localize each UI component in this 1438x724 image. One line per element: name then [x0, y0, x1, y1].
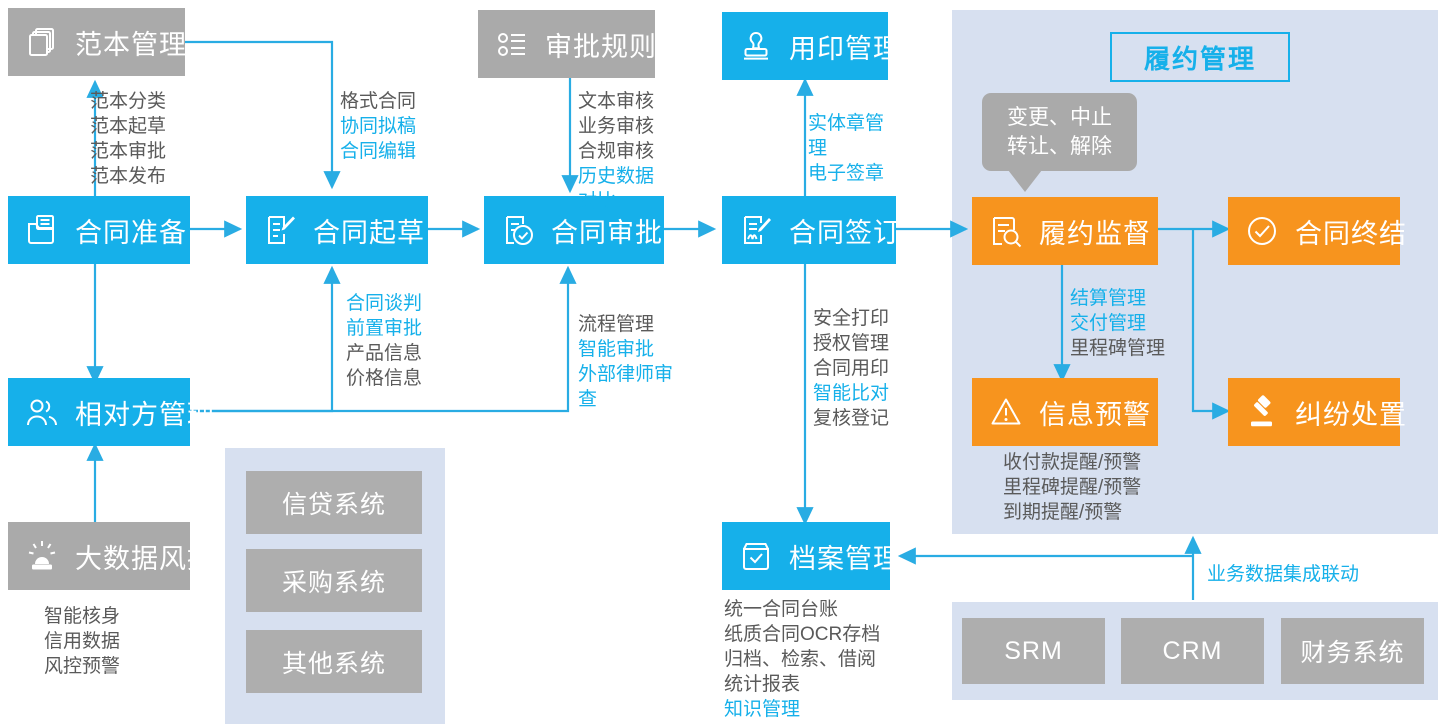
- archive-check-icon: [736, 536, 776, 576]
- node-label: 合同起草: [313, 211, 425, 250]
- caption-line: 实体章管理: [808, 113, 884, 159]
- caption-archive-mgmt: 统一合同台账纸质合同OCR存档归档、检索、借阅统计报表知识管理: [724, 597, 880, 722]
- node-label: 用印管理: [789, 27, 901, 66]
- caption-line: 业务审核: [578, 116, 654, 137]
- caption-line: 范本起草: [90, 116, 166, 137]
- node-label: 大数据风控: [75, 537, 215, 576]
- node-label: 纠纷处置: [1295, 393, 1407, 432]
- document-signature-icon: [736, 210, 776, 250]
- caption-line: 历史数据对比: [578, 166, 654, 212]
- caption-line: 授权管理: [813, 333, 889, 354]
- node-label: 合同签订: [789, 211, 901, 250]
- node-performance-monitor[interactable]: 履约监督: [972, 197, 1158, 265]
- folder-document-icon: [22, 210, 62, 250]
- node-label: 信息预警: [1039, 393, 1151, 432]
- caption-line: 到期提醒/预警: [1003, 502, 1122, 523]
- caption-seal-mgmt: 实体章管理电子签章: [808, 111, 894, 186]
- document-check-icon: [498, 210, 538, 250]
- system-label: 财务系统: [1300, 633, 1404, 669]
- node-seal-mgmt[interactable]: 用印管理: [722, 12, 888, 80]
- caption-line: 信用数据: [44, 631, 120, 652]
- caption-line: 产品信息: [346, 343, 422, 364]
- caption-line: 智能核身: [44, 606, 120, 627]
- system-box-other[interactable]: 其他系统: [246, 630, 422, 693]
- system-label: 其他系统: [282, 644, 386, 680]
- caption-performance-monitor: 结算管理交付管理里程碑管理: [1070, 286, 1165, 361]
- caption-line: 范本分类: [90, 91, 166, 112]
- node-bigdata-risk[interactable]: 大数据风控: [8, 522, 190, 590]
- diagram-canvas: 范本管理 审批规则 用印管理: [0, 0, 1438, 724]
- caption-line: 知识管理: [724, 699, 800, 720]
- caption-line: 合同编辑: [340, 141, 416, 162]
- caption-line: 归档、检索、借阅: [724, 649, 876, 670]
- caption-line: 价格信息: [346, 368, 422, 389]
- document-search-icon: [986, 211, 1026, 251]
- callout-line-1: 变更、中止: [1007, 103, 1112, 132]
- node-label: 履约监督: [1039, 212, 1151, 251]
- caption-info-alert: 收付款提醒/预警里程碑提醒/预警到期提醒/预警: [1003, 450, 1141, 525]
- caption-line: 结算管理: [1070, 288, 1146, 309]
- circle-check-icon: [1242, 211, 1282, 251]
- caption-line: 范本发布: [90, 166, 166, 187]
- caption-line: 协同拟稿: [340, 116, 416, 137]
- caption-line: 收付款提醒/预警: [1003, 452, 1141, 473]
- node-contract-draft[interactable]: 合同起草: [246, 196, 428, 264]
- caption-line: 前置审批: [346, 318, 422, 339]
- caption-line: 纸质合同OCR存档: [724, 624, 880, 645]
- caption-line: 文本审核: [578, 91, 654, 112]
- caption-contract-approve-top: 文本审核业务审核合规审核历史数据对比: [578, 89, 664, 214]
- caption-contract-sign-bottom: 安全打印授权管理合同用印智能比对复核登记: [813, 306, 889, 431]
- stamp-icon: [736, 26, 776, 66]
- node-dispute-handling[interactable]: 纠纷处置: [1228, 378, 1400, 446]
- caption-contract-draft-top: 格式合同协同拟稿合同编辑: [340, 89, 416, 164]
- document-pencil-icon: [260, 210, 300, 250]
- caption-line: 复核登记: [813, 408, 889, 429]
- performance-mgmt-title: 履约管理: [1110, 32, 1290, 82]
- caption-contract-draft-bottom: 合同谈判前置审批产品信息价格信息: [346, 291, 422, 391]
- list-rules-icon: [492, 24, 532, 64]
- warning-triangle-icon: [986, 392, 1026, 432]
- callout-tail-icon: [1008, 170, 1042, 192]
- caption-line: 智能比对: [813, 383, 889, 404]
- node-label: 合同终结: [1295, 212, 1407, 251]
- caption-line: 业务数据集成联动: [1207, 564, 1359, 585]
- node-label: 范本管理: [75, 23, 187, 62]
- system-box-credit[interactable]: 信贷系统: [246, 471, 422, 534]
- node-contract-end[interactable]: 合同终结: [1228, 197, 1400, 265]
- node-contract-sign[interactable]: 合同签订: [722, 196, 896, 264]
- caption-line: 流程管理: [578, 314, 654, 335]
- node-template-mgmt[interactable]: 范本管理: [8, 8, 185, 76]
- system-label: 采购系统: [282, 563, 386, 599]
- caption-line: 电子签章: [808, 163, 884, 184]
- node-approval-rules[interactable]: 审批规则: [478, 10, 655, 78]
- caption-line: 外部律师审查: [578, 364, 673, 410]
- gavel-icon: [1242, 392, 1282, 432]
- caption-line: 合规审核: [578, 141, 654, 162]
- stacked-documents-icon: [22, 22, 62, 62]
- caption-bigdata-risk: 智能核身信用数据风控预警: [44, 604, 120, 679]
- node-label: 相对方管理: [75, 393, 215, 432]
- system-box-finance[interactable]: 财务系统: [1281, 618, 1424, 684]
- node-label: 档案管理: [789, 537, 901, 576]
- node-archive-mgmt[interactable]: 档案管理: [722, 522, 890, 590]
- caption-line: 里程碑管理: [1070, 338, 1165, 359]
- system-label: SRM: [1004, 637, 1063, 666]
- node-info-alert[interactable]: 信息预警: [972, 378, 1158, 446]
- system-label: 信贷系统: [282, 485, 386, 521]
- alarm-light-icon: [22, 536, 62, 576]
- caption-line: 交付管理: [1070, 313, 1146, 334]
- caption-line: 统计报表: [724, 674, 800, 695]
- caption-line: 格式合同: [340, 91, 416, 112]
- caption-line: 风控预警: [44, 656, 120, 677]
- caption-line: 统一合同台账: [724, 599, 838, 620]
- node-label: 合同准备: [75, 211, 187, 250]
- node-contract-prepare[interactable]: 合同准备: [8, 196, 190, 264]
- system-box-srm[interactable]: SRM: [962, 618, 1105, 684]
- caption-line: 合同谈判: [346, 293, 422, 314]
- caption-line: 智能审批: [578, 339, 654, 360]
- caption-line: 合同用印: [813, 358, 889, 379]
- caption-data-integration: 业务数据集成联动: [1207, 562, 1367, 587]
- node-counterparty-mgmt[interactable]: 相对方管理: [8, 378, 190, 446]
- node-label: 审批规则: [545, 25, 657, 64]
- caption-template-mgmt: 范本分类范本起草范本审批范本发布: [90, 89, 166, 189]
- caption-line: 安全打印: [813, 308, 889, 329]
- system-box-crm[interactable]: CRM: [1121, 618, 1264, 684]
- node-label: 合同审批: [551, 211, 663, 250]
- caption-line: 里程碑提醒/预警: [1003, 477, 1141, 498]
- caption-contract-approve-bottom: 流程管理智能审批外部律师审查: [578, 312, 682, 412]
- change-terminate-callout: 变更、中止 转让、解除: [982, 93, 1137, 171]
- two-users-icon: [22, 392, 62, 432]
- system-label: CRM: [1163, 637, 1223, 666]
- callout-line-2: 转让、解除: [1007, 132, 1112, 161]
- section-title-label: 履约管理: [1144, 39, 1256, 76]
- system-box-procurement[interactable]: 采购系统: [246, 549, 422, 612]
- caption-line: 范本审批: [90, 141, 166, 162]
